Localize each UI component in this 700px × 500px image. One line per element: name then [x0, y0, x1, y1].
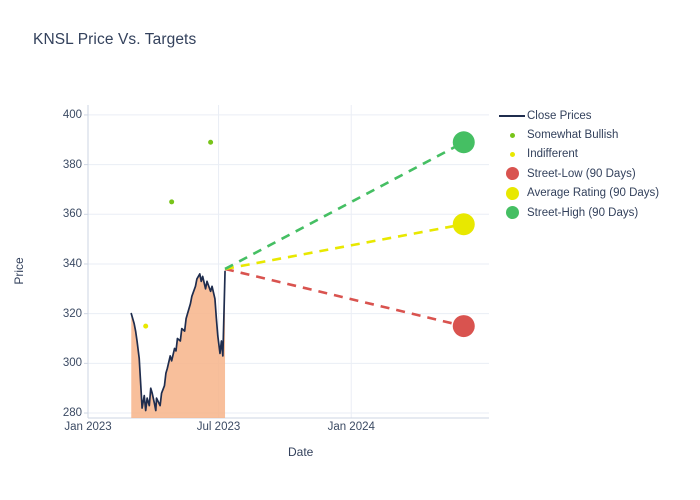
legend-item-label: Indifferent — [527, 148, 578, 160]
close-price-area-fill — [131, 271, 225, 418]
y-axis-title: Price — [12, 241, 26, 301]
legend-item-label: Somewhat Bullish — [527, 129, 618, 141]
legend-item[interactable]: Average Rating (90 Days) — [497, 184, 697, 203]
legend-item[interactable]: Somewhat Bullish — [497, 125, 697, 144]
axis-lines — [84, 105, 489, 418]
legend-large-dot-icon — [497, 187, 527, 200]
x-tick-label: Jan 2024 — [328, 421, 375, 433]
legend-large-dot-icon — [497, 206, 527, 219]
legend-small-dot-icon — [497, 152, 527, 157]
legend-item-label: Street-Low (90 Days) — [527, 168, 636, 180]
x-tick-label: Jul 2023 — [197, 421, 240, 433]
y-tick-label: 380 — [46, 159, 82, 171]
scatter-marker[interactable] — [208, 140, 213, 145]
scatter-marker[interactable] — [169, 199, 174, 204]
target-markers[interactable] — [453, 131, 475, 337]
legend-item[interactable]: Close Prices — [497, 106, 697, 125]
legend-item-label: Street-High (90 Days) — [527, 207, 638, 219]
x-tick-label: Jan 2023 — [64, 421, 111, 433]
x-axis-title: Date — [288, 445, 313, 459]
scatter-marker[interactable] — [143, 324, 148, 329]
target-projection-lines — [225, 142, 464, 326]
legend-item-label: Average Rating (90 Days) — [527, 187, 659, 199]
y-tick-label: 340 — [46, 258, 82, 270]
legend-small-dot-icon — [497, 133, 527, 138]
legend-item[interactable]: Indifferent — [497, 145, 697, 164]
y-tick-label: 300 — [46, 357, 82, 369]
target-marker[interactable] — [453, 213, 475, 235]
gridlines — [88, 105, 489, 418]
y-tick-label: 280 — [46, 407, 82, 419]
y-tick-label: 400 — [46, 109, 82, 121]
legend-item[interactable]: Street-Low (90 Days) — [497, 164, 697, 183]
y-tick-label: 360 — [46, 208, 82, 220]
y-tick-label: 320 — [46, 308, 82, 320]
legend-line-icon — [497, 115, 527, 117]
chart-legend: Close PricesSomewhat BullishIndifferentS… — [497, 106, 697, 222]
legend-item-label: Close Prices — [527, 110, 592, 122]
legend-item[interactable]: Street-High (90 Days) — [497, 203, 697, 222]
target-marker[interactable] — [453, 315, 475, 337]
target-marker[interactable] — [453, 131, 475, 153]
price-vs-targets-chart: KNSL Price Vs. Targets 28030032034036038… — [0, 0, 700, 500]
legend-large-dot-icon — [497, 167, 527, 180]
